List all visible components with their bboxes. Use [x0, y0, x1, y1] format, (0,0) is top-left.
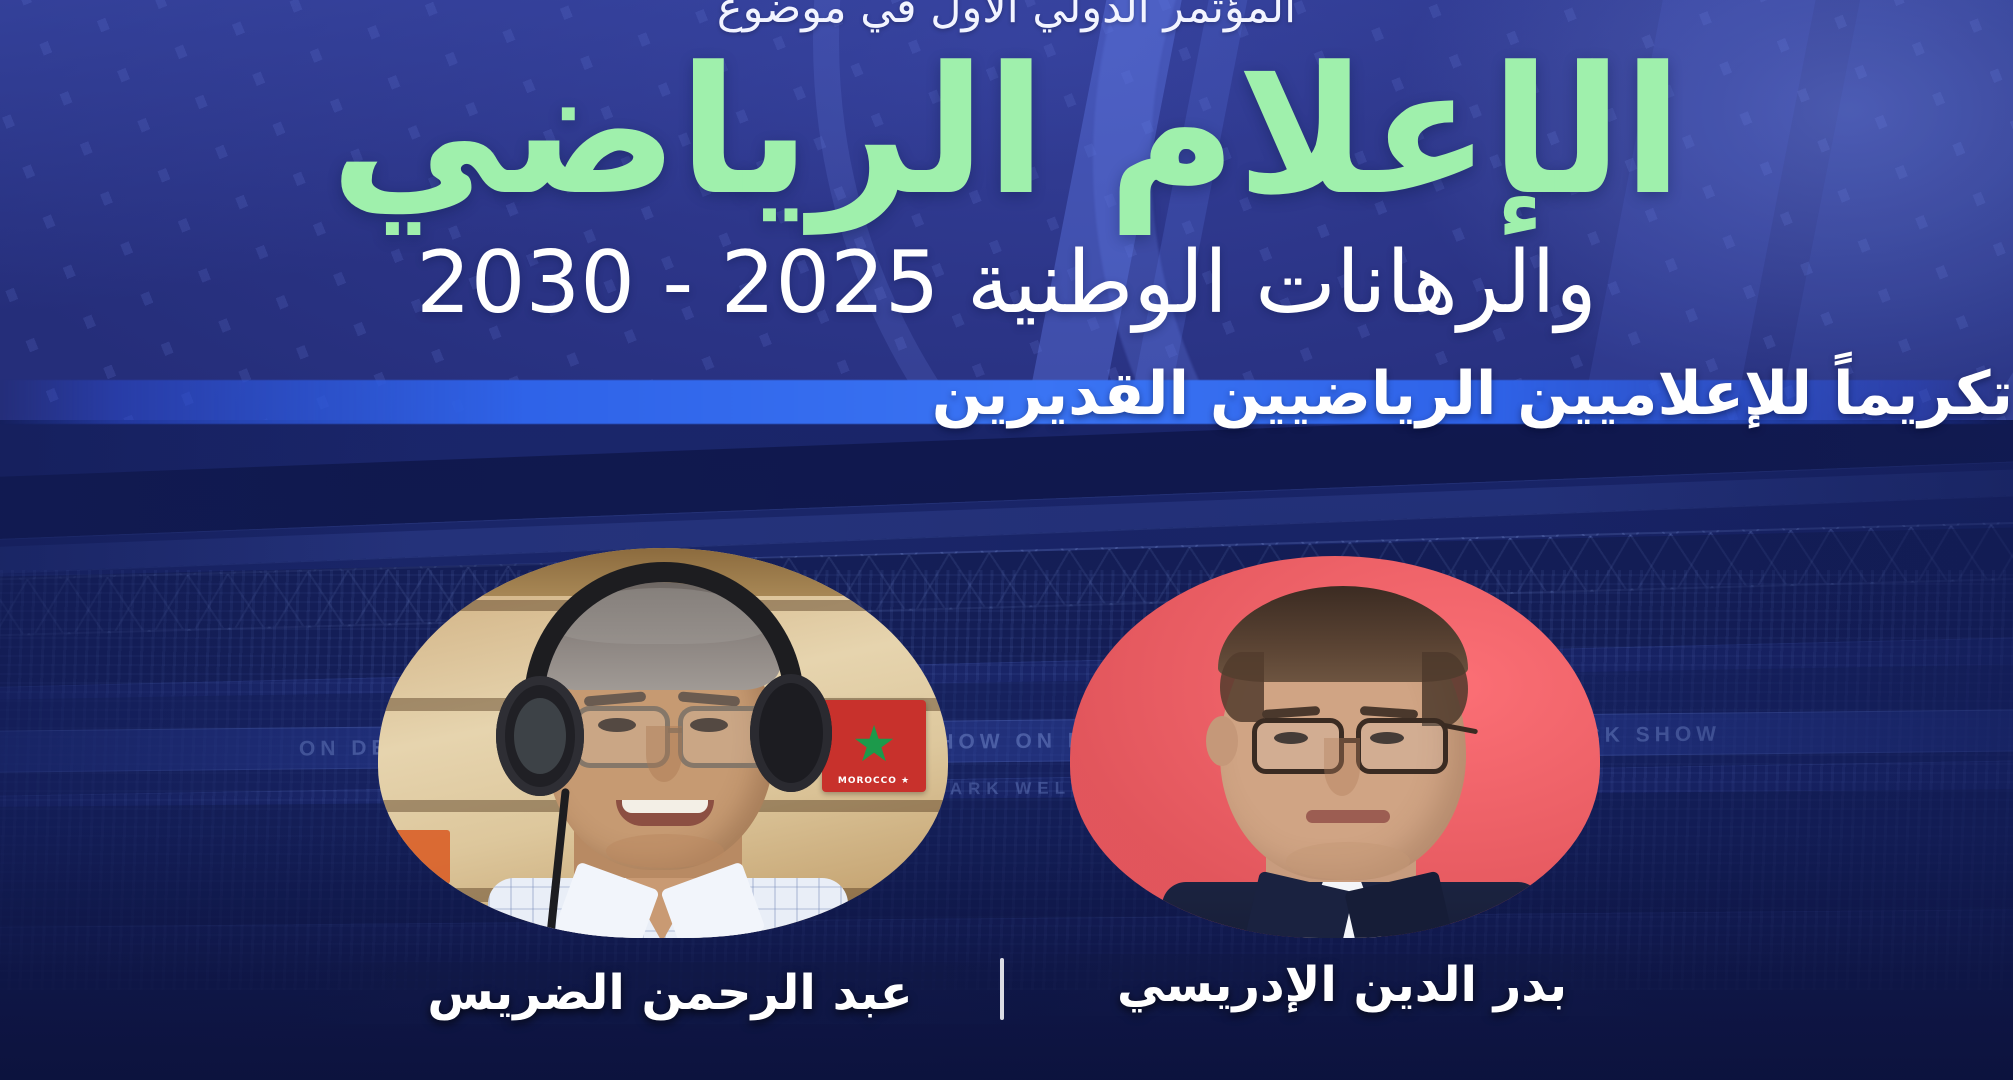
right-ear-left: [1206, 716, 1238, 766]
flag-badge-label: ★ MOROCCO: [822, 776, 926, 786]
right-mouth: [1306, 810, 1390, 823]
conference-poster: ON DECK SHOW ON DECK SHOW ON DECK SHOW O…: [0, 0, 2013, 1080]
right-chin: [1286, 842, 1410, 880]
right-nose: [1324, 738, 1360, 796]
right-glasses-lens-right: [1356, 718, 1448, 774]
left-chin: [606, 834, 724, 868]
honoree-portrait-left: ★ ★ MOROCCO: [378, 548, 948, 938]
headphones-earcup-right: [750, 674, 832, 792]
page-title: الإعلام الرياضي: [0, 42, 2013, 222]
right-hair-side-right: [1422, 652, 1468, 726]
left-nose: [646, 726, 682, 782]
honoree-portrait-right: [1070, 556, 1600, 938]
tribute-line: تكريماً للإعلاميين الرياضيين القديرين: [0, 363, 2013, 426]
headphones-earpad-left: [514, 698, 566, 774]
honoree-name-left: عبد الرحمن الضريس: [300, 962, 1040, 1024]
conference-subtitle: والرهانات الوطنية 2025 - 2030: [0, 238, 2013, 328]
star-icon: ★: [852, 719, 897, 769]
left-mouth: [616, 800, 714, 826]
bottom-vignette: [0, 830, 2013, 1080]
nameplate-divider: [1000, 958, 1004, 1020]
studio-orange-object: [392, 830, 450, 884]
honoree-name-right: بدر الدين الإدريسي: [1032, 954, 1652, 1016]
right-hair-side-left: [1220, 652, 1264, 722]
morocco-flag-badge: ★ ★ MOROCCO: [822, 700, 926, 792]
left-teeth: [622, 800, 708, 813]
conference-kicker-line: المؤتمر الدولي الأول في موضوع: [0, 0, 2013, 30]
